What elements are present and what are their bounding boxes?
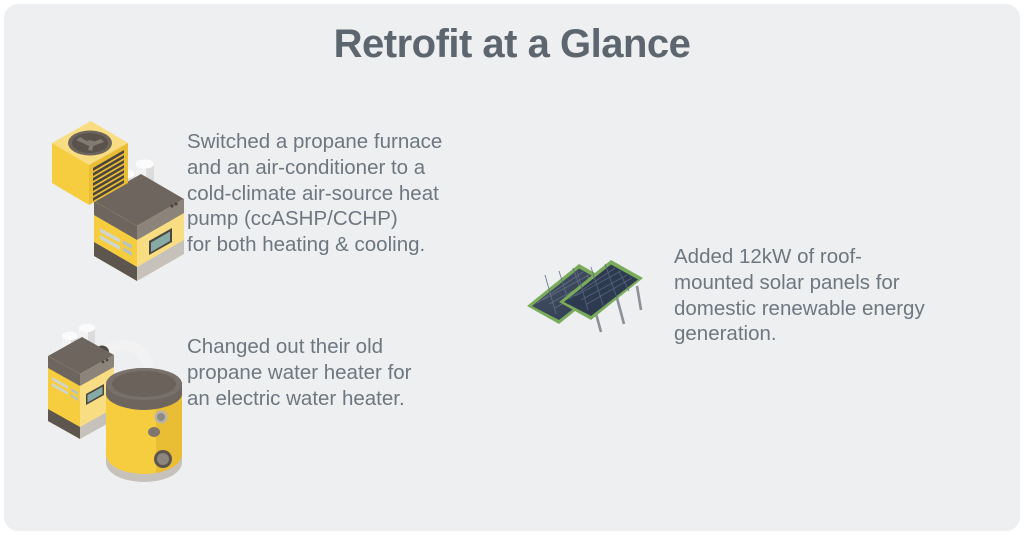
water-heater-illustration	[44, 314, 194, 494]
heat-pump-description: Switched a propane furnace and an air-co…	[187, 129, 517, 258]
boiler-unit	[48, 324, 114, 439]
page-title: Retrofit at a Glance	[4, 22, 1020, 67]
water-heater-description: Changed out their old propane water heat…	[187, 334, 487, 411]
solar-panel-illustration	[519, 244, 659, 349]
water-tank	[106, 368, 182, 482]
infographic-card: Retrofit at a Glance	[4, 4, 1020, 531]
heat-pump-illustration	[44, 109, 194, 289]
solar-description: Added 12kW of roof- mounted solar panels…	[674, 244, 994, 347]
